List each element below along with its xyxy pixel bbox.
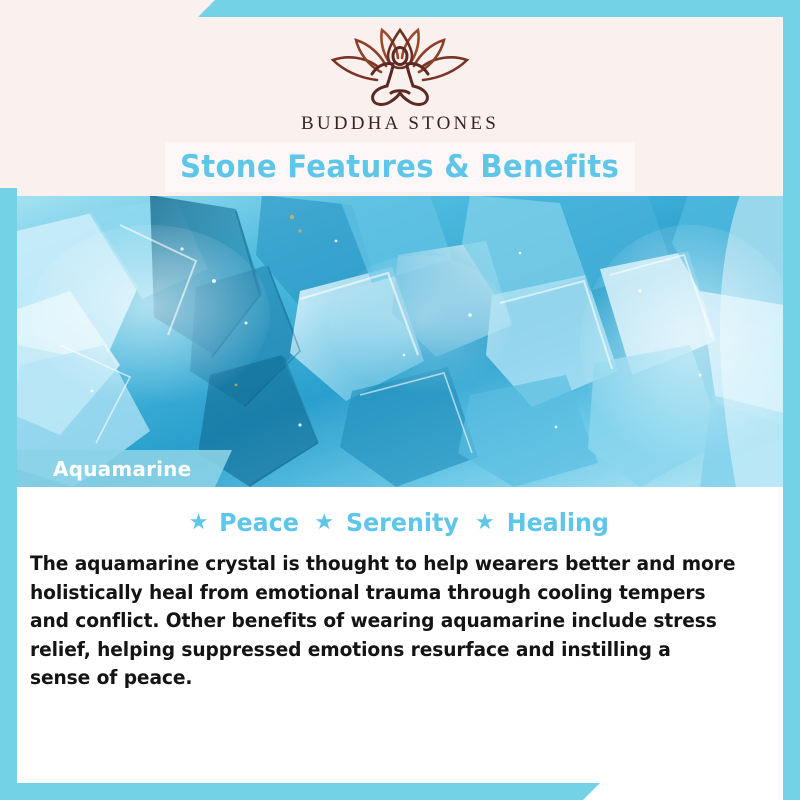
star-icon: ★ — [189, 512, 209, 534]
keyword-item-peace: ★ Peace — [189, 508, 302, 537]
frame-band-right — [783, 0, 800, 800]
keyword-item-healing: ★ Healing — [475, 508, 611, 537]
stone-name-tag: Aquamarine — [17, 450, 232, 487]
stone-description: The aquamarine crystal is thought to hel… — [30, 550, 737, 693]
frame-band-left — [0, 188, 17, 800]
keyword-label: Healing — [506, 508, 608, 537]
frame-band-bottom — [0, 783, 800, 800]
lotus-meditation-icon — [325, 22, 475, 108]
aquamarine-crystal-closeup — [0, 195, 784, 487]
star-icon: ★ — [314, 512, 334, 534]
page-title-panel: Stone Features & Benefits — [165, 142, 635, 192]
keyword-item-serenity: ★ Serenity — [314, 508, 462, 537]
stone-photo — [0, 195, 784, 487]
star-icon: ★ — [475, 512, 495, 534]
keyword-label: Peace — [220, 508, 300, 537]
content-section: ★ Peace ★ Serenity ★ Healing The aquamar… — [17, 487, 783, 783]
keyword-label: Serenity — [346, 508, 459, 537]
brand-name: BUDDHA STONES — [301, 113, 499, 135]
page-title: Stone Features & Benefits — [180, 149, 619, 185]
brand-logo: BUDDHA STONES — [0, 22, 800, 135]
keyword-list: ★ Peace ★ Serenity ★ Healing — [17, 508, 783, 537]
infographic-card: BUDDHA STONES — [0, 0, 800, 800]
stone-name-label: Aquamarine — [17, 457, 191, 481]
